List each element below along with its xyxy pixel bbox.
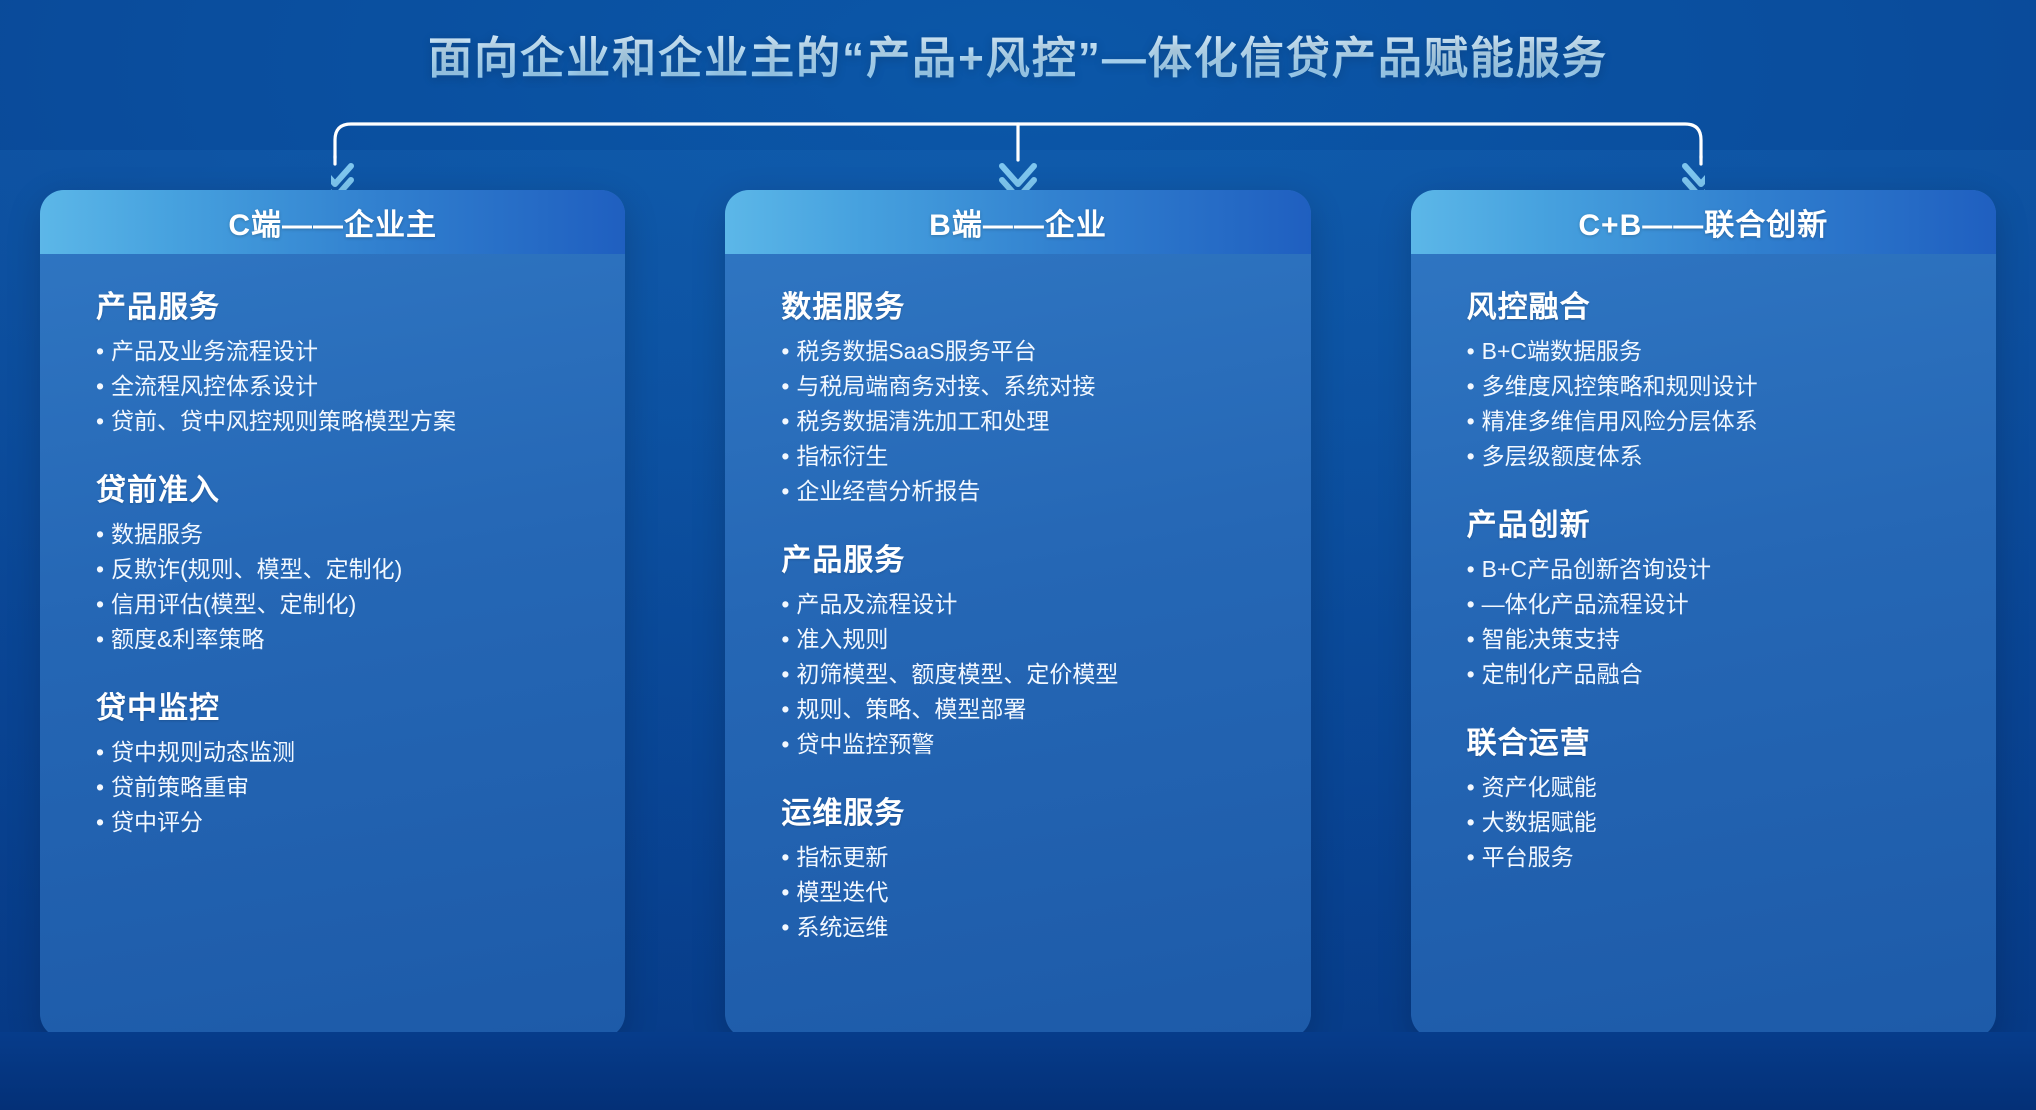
bottom-strip (0, 1032, 2036, 1110)
card-header: B端——企业 (725, 190, 1310, 254)
list-item: 税务数据SaaS服务平台 (781, 334, 1276, 369)
section-title: 联合运营 (1467, 718, 1962, 762)
section: 贷前准入 数据服务 反欺诈(规则、模型、定制化) 信用评估(模型、定制化) 额度… (96, 465, 591, 657)
list-item: 贷中监控预警 (781, 727, 1276, 762)
card-header-title: C+B——联合创新 (1578, 200, 1828, 244)
section: 产品创新 B+C产品创新咨询设计 —体化产品流程设计 智能决策支持 定制化产品融… (1467, 500, 1962, 692)
card-header: C+B——联合创新 (1411, 190, 1996, 254)
list-item: 平台服务 (1467, 840, 1962, 875)
section-title: 数据服务 (781, 282, 1276, 326)
list-item: 规则、策略、模型部署 (781, 692, 1276, 727)
bullet-list: B+C端数据服务 多维度风控策略和规则设计 精准多维信用风险分层体系 多层级额度… (1467, 334, 1962, 474)
bullet-list: 指标更新 模型迭代 系统运维 (781, 840, 1276, 945)
bullet-list: 贷中规则动态监测 贷前策略重审 贷中评分 (96, 735, 591, 840)
bullet-list: 产品及流程设计 准入规则 初筛模型、额度模型、定价模型 规则、策略、模型部署 贷… (781, 587, 1276, 762)
section-title: 贷中监控 (96, 683, 591, 727)
bullet-list: 税务数据SaaS服务平台 与税局端商务对接、系统对接 税务数据清洗加工和处理 指… (781, 334, 1276, 509)
list-item: 数据服务 (96, 517, 591, 552)
list-item: 产品及流程设计 (781, 587, 1276, 622)
list-item: 指标衍生 (781, 439, 1276, 474)
section: 风控融合 B+C端数据服务 多维度风控策略和规则设计 精准多维信用风险分层体系 … (1467, 282, 1962, 474)
page-title: 面向企业和企业主的“产品+风控”—体化信贷产品赋能服务 (0, 22, 2036, 86)
list-item: 反欺诈(规则、模型、定制化) (96, 552, 591, 587)
list-item: 资产化赋能 (1467, 770, 1962, 805)
section: 联合运营 资产化赋能 大数据赋能 平台服务 (1467, 718, 1962, 875)
section: 产品服务 产品及业务流程设计 全流程风控体系设计 贷前、贷中风控规则策略模型方案 (96, 282, 591, 439)
bullet-list: B+C产品创新咨询设计 —体化产品流程设计 智能决策支持 定制化产品融合 (1467, 552, 1962, 692)
slide-canvas: 面向企业和企业主的“产品+风控”—体化信贷产品赋能服务 (0, 0, 2036, 1110)
list-item: 大数据赋能 (1467, 805, 1962, 840)
list-item: 贷前、贷中风控规则策略模型方案 (96, 404, 591, 439)
section-title: 产品创新 (1467, 500, 1962, 544)
card-c-end[interactable]: C端——企业主 产品服务 产品及业务流程设计 全流程风控体系设计 贷前、贷中风控… (40, 190, 625, 1038)
list-item: 税务数据清洗加工和处理 (781, 404, 1276, 439)
bullet-list: 数据服务 反欺诈(规则、模型、定制化) 信用评估(模型、定制化) 额度&利率策略 (96, 517, 591, 657)
bullet-list: 产品及业务流程设计 全流程风控体系设计 贷前、贷中风控规则策略模型方案 (96, 334, 591, 439)
list-item: 系统运维 (781, 910, 1276, 945)
list-item: 信用评估(模型、定制化) (96, 587, 591, 622)
list-item: 全流程风控体系设计 (96, 369, 591, 404)
bullet-list: 资产化赋能 大数据赋能 平台服务 (1467, 770, 1962, 875)
list-item: 智能决策支持 (1467, 622, 1962, 657)
list-item: 准入规则 (781, 622, 1276, 657)
card-header-title: C端——企业主 (228, 200, 437, 244)
list-item: —体化产品流程设计 (1467, 587, 1962, 622)
list-item: 贷前策略重审 (96, 770, 591, 805)
section-title: 产品服务 (96, 282, 591, 326)
list-item: 企业经营分析报告 (781, 474, 1276, 509)
cards-row: C端——企业主 产品服务 产品及业务流程设计 全流程风控体系设计 贷前、贷中风控… (40, 190, 1996, 1038)
list-item: 模型迭代 (781, 875, 1276, 910)
list-item: 与税局端商务对接、系统对接 (781, 369, 1276, 404)
page-title-text: 面向企业和企业主的“产品+风控”—体化信贷产品赋能服务 (428, 22, 1608, 86)
list-item: 多层级额度体系 (1467, 439, 1962, 474)
section-title: 风控融合 (1467, 282, 1962, 326)
card-body: 风控融合 B+C端数据服务 多维度风控策略和规则设计 精准多维信用风险分层体系 … (1411, 254, 1996, 1038)
card-cb-end[interactable]: C+B——联合创新 风控融合 B+C端数据服务 多维度风控策略和规则设计 精准多… (1411, 190, 1996, 1038)
card-header: C端——企业主 (40, 190, 625, 254)
connector-line (335, 124, 1701, 158)
list-item: 多维度风控策略和规则设计 (1467, 369, 1962, 404)
list-item: B+C端数据服务 (1467, 334, 1962, 369)
section-title: 贷前准入 (96, 465, 591, 509)
section: 产品服务 产品及流程设计 准入规则 初筛模型、额度模型、定价模型 规则、策略、模… (781, 535, 1276, 762)
list-item: 产品及业务流程设计 (96, 334, 591, 369)
list-item: 定制化产品融合 (1467, 657, 1962, 692)
section-title: 产品服务 (781, 535, 1276, 579)
card-b-end[interactable]: B端——企业 数据服务 税务数据SaaS服务平台 与税局端商务对接、系统对接 税… (725, 190, 1310, 1038)
section-title: 运维服务 (781, 788, 1276, 832)
section: 数据服务 税务数据SaaS服务平台 与税局端商务对接、系统对接 税务数据清洗加工… (781, 282, 1276, 509)
list-item: 额度&利率策略 (96, 622, 591, 657)
section: 运维服务 指标更新 模型迭代 系统运维 (781, 788, 1276, 945)
list-item: 贷中规则动态监测 (96, 735, 591, 770)
card-header-title: B端——企业 (929, 200, 1107, 244)
card-body: 产品服务 产品及业务流程设计 全流程风控体系设计 贷前、贷中风控规则策略模型方案… (40, 254, 625, 1038)
list-item: 精准多维信用风险分层体系 (1467, 404, 1962, 439)
list-item: B+C产品创新咨询设计 (1467, 552, 1962, 587)
section: 贷中监控 贷中规则动态监测 贷前策略重审 贷中评分 (96, 683, 591, 840)
list-item: 贷中评分 (96, 805, 591, 840)
list-item: 指标更新 (781, 840, 1276, 875)
card-body: 数据服务 税务数据SaaS服务平台 与税局端商务对接、系统对接 税务数据清洗加工… (725, 254, 1310, 1038)
list-item: 初筛模型、额度模型、定价模型 (781, 657, 1276, 692)
